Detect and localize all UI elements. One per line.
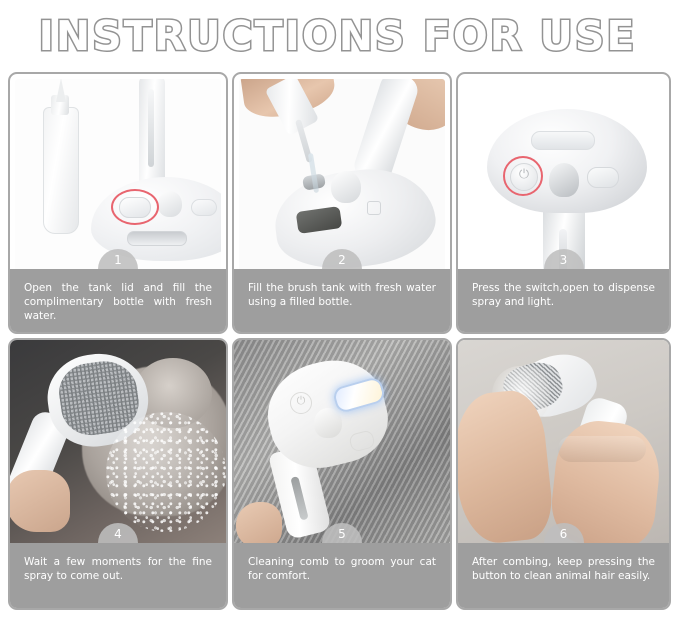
step-6-caption: After combing, keep pressing the button … bbox=[458, 543, 669, 608]
step-5-caption: Cleaning comb to groom your cat for comf… bbox=[234, 543, 450, 608]
power-button-icon bbox=[290, 392, 312, 414]
step-5-photo bbox=[234, 340, 450, 545]
step-2-photo bbox=[239, 79, 445, 271]
step-5-caption-text: Cleaning comb to groom your cat for comf… bbox=[248, 556, 436, 584]
steps-grid: 1 Open the tank lid and fill the complim… bbox=[0, 72, 675, 610]
device-nozzle bbox=[331, 171, 361, 203]
device-oval-button bbox=[587, 167, 619, 188]
device-nozzle bbox=[158, 191, 182, 217]
device-nozzle bbox=[549, 163, 579, 197]
step-card-3: 3 Press the switch,open to dispense spra… bbox=[456, 72, 671, 334]
step-card-5: 5 Cleaning comb to groom your cat for co… bbox=[232, 338, 452, 610]
step-card-1: 1 Open the tank lid and fill the complim… bbox=[8, 72, 228, 334]
highlight-ring-icon bbox=[111, 189, 159, 225]
hand-holding-device bbox=[236, 502, 282, 545]
device-oval-button bbox=[191, 199, 217, 216]
bottle-tip-icon bbox=[56, 79, 66, 102]
step-6-caption-text: After combing, keep pressing the button … bbox=[472, 556, 655, 584]
device-handle bbox=[139, 79, 165, 193]
step-6-photo bbox=[458, 340, 669, 545]
spray-bottle-icon bbox=[43, 107, 79, 234]
step-card-6: 6 After combing, keep pressing the butto… bbox=[456, 338, 671, 610]
step-3-photo bbox=[463, 79, 664, 271]
hand-holding-device bbox=[10, 470, 70, 532]
step-1-caption-text: Open the tank lid and fill the complimen… bbox=[24, 282, 212, 324]
step-3-caption: Press the switch,open to dispense spray … bbox=[458, 269, 669, 332]
water-mist-spray bbox=[106, 412, 226, 532]
step-2-caption: Fill the brush tank with fresh water usi… bbox=[234, 269, 450, 332]
step-3-caption-text: Press the switch,open to dispense spray … bbox=[472, 282, 655, 310]
page-title-container: INSTRUCTIONS FOR USE bbox=[0, 0, 675, 72]
device-nozzle bbox=[314, 408, 342, 438]
step-card-4: 4 Wait a few moments for the fine spray … bbox=[8, 338, 228, 610]
step-4-caption: Wait a few moments for the fine spray to… bbox=[10, 543, 226, 608]
step-2-caption-text: Fill the brush tank with fresh water usi… bbox=[248, 282, 436, 310]
step-card-2: 2 Fill the brush tank with fresh water u… bbox=[232, 72, 452, 334]
highlight-ring-icon bbox=[503, 156, 543, 196]
step-4-photo bbox=[10, 340, 226, 545]
page-title: INSTRUCTIONS FOR USE bbox=[39, 16, 637, 57]
step-4-caption-text: Wait a few moments for the fine spray to… bbox=[24, 556, 212, 584]
device-tank-window bbox=[531, 131, 595, 150]
device-body bbox=[91, 177, 221, 261]
device-oval-button bbox=[367, 201, 381, 215]
fingers-gripping-handle bbox=[558, 436, 646, 462]
instructions-page: INSTRUCTIONS FOR USE 1 Open the tank lid… bbox=[0, 0, 675, 639]
device-tank-window bbox=[127, 231, 187, 246]
step-1-caption: Open the tank lid and fill the complimen… bbox=[10, 269, 226, 332]
step-1-photo bbox=[15, 79, 221, 271]
